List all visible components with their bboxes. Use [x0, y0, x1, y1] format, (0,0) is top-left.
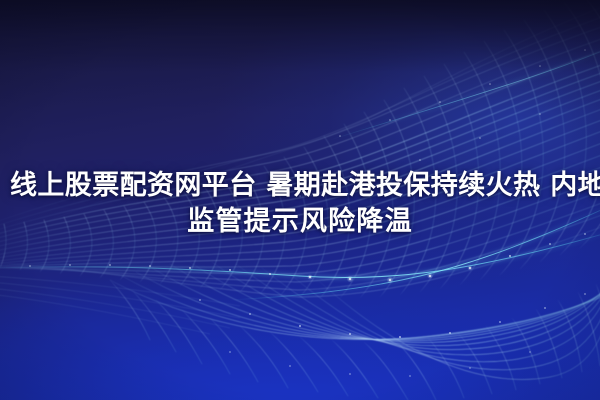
headline-block: 线上股票配资网平台 暑期赴港投保持续火热 内地 监管提示风险降温 — [0, 168, 600, 240]
headline-line-1: 线上股票配资网平台 暑期赴港投保持续火热 内地 — [10, 168, 590, 204]
article-banner: 线上股票配资网平台 暑期赴港投保持续火热 内地 监管提示风险降温 — [0, 0, 600, 400]
headline-line-2: 监管提示风险降温 — [10, 204, 590, 240]
